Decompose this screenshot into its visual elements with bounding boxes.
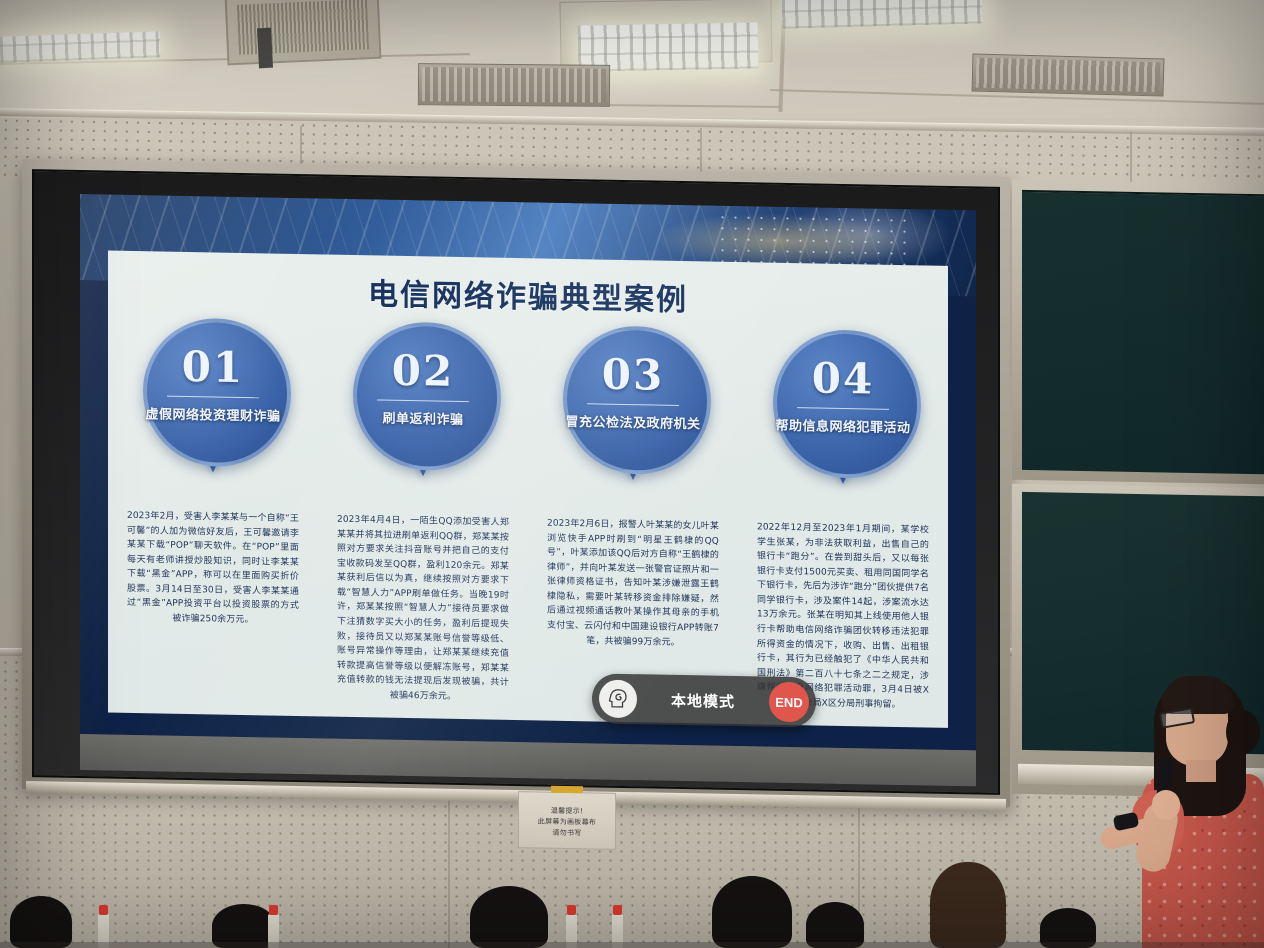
slide-title: 电信网络诈骗典型案例 (108, 265, 948, 324)
case-text-01: 2023年2月，受害人李某某与一个自称“王可馨”的人加为微信好友后，王可馨邀请李… (127, 509, 299, 629)
case-marker-01[interactable]: 01 虚假网络投资理财诈骗 (137, 317, 289, 496)
case-columns: 01 虚假网络投资理财诈骗 2023年2月，受害人李某某与一个自称“王可馨”的人… (108, 317, 948, 724)
sign-tab (551, 786, 583, 794)
audience-head (930, 862, 1006, 948)
case-text-03: 2023年2月6日，报警人叶某某的女儿叶某浏览快手APP时刷到“明星王鹤棣的QQ… (547, 517, 719, 651)
case-column-01: 01 虚假网络投资理财诈骗 2023年2月，受害人李某某与一个自称“王可馨”的人… (108, 317, 318, 713)
case-text-02: 2023年4月4日，一陌生QQ添加受害人郑某某并将其拉进刷单返利QQ群，郑某某按… (337, 513, 509, 706)
slide-content-panel: 电信网络诈骗典型案例 01 虚假网络投资理财诈骗 20 (108, 251, 948, 728)
ceiling-light-panel (0, 31, 160, 63)
light-louver (782, 0, 983, 29)
case-number-04: 04 (767, 353, 919, 405)
case-label-03: 冒充公检法及政府机关 (535, 410, 731, 433)
ac-vent (257, 28, 273, 69)
board-bezel: 电信网络诈骗典型案例 01 虚假网络投资理财诈骗 20 (32, 169, 1000, 795)
audience-head (10, 896, 72, 948)
case-number-03: 03 (557, 349, 709, 401)
audience-head (712, 876, 792, 948)
presentation-screen[interactable]: 电信网络诈骗典型案例 01 虚假网络投资理财诈骗 20 (80, 194, 976, 786)
marker-circle (353, 321, 501, 472)
ceiling (0, 0, 1264, 128)
marker-circle (563, 325, 711, 476)
smart-board[interactable]: 电信网络诈骗典型案例 01 虚假网络投资理财诈骗 20 (22, 159, 1010, 807)
case-column-03: 03 冒充公检法及政府机关 2023年2月6日，报警人叶某某的女儿叶某浏览快手A… (528, 324, 738, 720)
presenter-hair-bun (1226, 710, 1260, 754)
marker-circle (143, 317, 291, 468)
sign-line-1: 温馨提示! (551, 806, 583, 817)
case-label-04: 帮助信息网络犯罪活动 (745, 414, 941, 437)
presenter-hand (1152, 790, 1180, 820)
blackboard-upper (1012, 180, 1264, 485)
case-number-02: 02 (347, 345, 499, 397)
air-conditioner-unit (225, 0, 382, 65)
case-column-02: 02 刷单返利诈骗 2023年4月4日，一陌生QQ添加受害人郑某某并将其拉进刷单… (318, 320, 528, 716)
presenter-neck (1186, 760, 1216, 782)
case-label-02: 刷单返利诈骗 (325, 406, 521, 429)
desk-edge (0, 942, 1264, 948)
light-louver (0, 31, 160, 63)
sign-line-3: 请勿书写 (552, 828, 581, 839)
case-marker-04[interactable]: 04 帮助信息网络犯罪活动 (767, 329, 919, 508)
case-marker-03[interactable]: 03 冒充公检法及政府机关 (557, 325, 709, 504)
ceiling-light-fixture-off (972, 53, 1165, 96)
slide: 电信网络诈骗典型案例 01 虚假网络投资理财诈骗 20 (80, 194, 976, 750)
ai-mode-label: 本地模式 (637, 689, 769, 712)
sign-line-2: 此屏幕为画板幕布 (538, 816, 596, 827)
audience-head (470, 886, 548, 948)
ceiling-seam (778, 20, 785, 112)
classroom-scene: 电信网络诈骗典型案例 01 虚假网络投资理财诈骗 20 (0, 0, 1264, 948)
warning-sign: 温馨提示! 此屏幕为画板幕布 请勿书写 (518, 791, 616, 850)
marker-circle (773, 329, 921, 480)
end-session-button[interactable]: END (769, 682, 809, 723)
ai-assistant-widget[interactable]: 本地模式 END (592, 673, 816, 727)
case-number-01: 01 (137, 341, 289, 393)
presenter-hair-front (1162, 676, 1234, 714)
case-label-01: 虚假网络投资理财诈骗 (115, 403, 311, 426)
ceiling-light-panel (782, 0, 983, 29)
ceiling-light-fixture-off (418, 63, 610, 107)
blackboard-surface (1022, 190, 1264, 474)
head-brain-icon (599, 680, 637, 719)
case-column-04: 04 帮助信息网络犯罪活动 2022年12月至2023年1月期间，某学校学生张某… (738, 328, 948, 724)
presenter (1136, 666, 1264, 948)
case-marker-02[interactable]: 02 刷单返利诈骗 (347, 321, 499, 500)
